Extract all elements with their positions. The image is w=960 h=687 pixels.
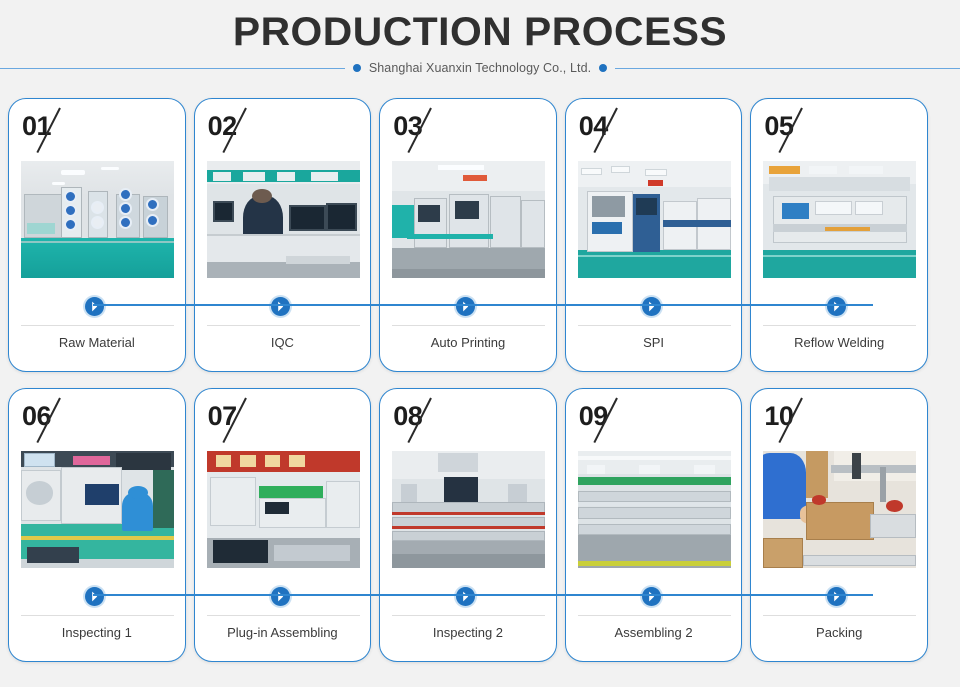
chevron-right-icon <box>85 297 104 316</box>
card-divider <box>578 325 731 326</box>
step-number: 08 <box>393 401 422 431</box>
page-title: PRODUCTION PROCESS <box>0 10 960 55</box>
process-step-card[interactable]: 09 <box>565 388 743 662</box>
chevron-right-icon <box>642 297 661 316</box>
step-number: 05 <box>764 111 793 141</box>
connector-line-row-1 <box>93 304 873 306</box>
step-number: 06 <box>22 401 51 431</box>
production-process-page: PRODUCTION PROCESS Shanghai Xuanxin Tech… <box>0 0 960 687</box>
step-photo <box>392 451 545 568</box>
step-photo <box>578 161 731 278</box>
step-photo <box>207 161 360 278</box>
process-step-card[interactable]: 01 <box>8 98 186 372</box>
process-step-card[interactable]: 03 <box>379 98 557 372</box>
step-number: 10 <box>764 401 793 431</box>
rule-dot-right-icon <box>599 64 607 72</box>
step-label: Packing <box>751 625 927 640</box>
step-label: Auto Printing <box>380 335 556 350</box>
process-step-card[interactable]: 07 <box>194 388 372 662</box>
chevron-right-icon <box>456 587 475 606</box>
step-photo <box>763 161 916 278</box>
step-label: Inspecting 1 <box>9 625 185 640</box>
step-number-group: 05 <box>764 111 854 159</box>
step-label: Inspecting 2 <box>380 625 556 640</box>
step-label: Plug-in Assembling <box>195 625 371 640</box>
step-label: Reflow Welding <box>751 335 927 350</box>
step-photo <box>578 451 731 568</box>
page-header: PRODUCTION PROCESS Shanghai Xuanxin Tech… <box>0 0 960 92</box>
step-number-group: 02 <box>208 111 298 159</box>
chevron-right-icon <box>271 587 290 606</box>
card-divider <box>763 615 916 616</box>
step-number-group: 04 <box>579 111 669 159</box>
chevron-right-icon <box>642 587 661 606</box>
card-divider <box>21 325 174 326</box>
step-number-group: 10 <box>764 401 854 449</box>
chevron-right-icon <box>271 297 290 316</box>
step-label: Raw Material <box>9 335 185 350</box>
chevron-right-icon <box>827 587 846 606</box>
step-number-group: 03 <box>393 111 483 159</box>
process-cards-row-2: 06 <box>8 388 952 662</box>
card-divider <box>207 325 360 326</box>
step-label: IQC <box>195 335 371 350</box>
step-number-group: 06 <box>22 401 112 449</box>
process-step-card[interactable]: 02 <box>194 98 372 372</box>
process-step-card[interactable]: 05 <box>750 98 928 372</box>
step-photo <box>763 451 916 568</box>
process-step-card[interactable]: 06 <box>8 388 186 662</box>
process-row-1: 01 <box>8 98 952 372</box>
rule-dot-left-icon <box>353 64 361 72</box>
card-divider <box>392 615 545 616</box>
step-number: 03 <box>393 111 422 141</box>
step-photo <box>21 451 174 568</box>
step-number-group: 09 <box>579 401 669 449</box>
card-divider <box>763 325 916 326</box>
step-label: Assembling 2 <box>566 625 742 640</box>
process-row-2: 06 <box>8 388 952 662</box>
card-divider <box>578 615 731 616</box>
card-divider <box>207 615 360 616</box>
subtitle-rule-row: Shanghai Xuanxin Technology Co., Ltd. <box>0 56 960 80</box>
process-step-card[interactable]: 08 <box>379 388 557 662</box>
process-cards-row-1: 01 <box>8 98 952 372</box>
card-divider <box>21 615 174 616</box>
step-photo <box>392 161 545 278</box>
connector-line-row-2 <box>93 594 873 596</box>
chevron-right-icon <box>456 297 475 316</box>
process-step-card[interactable]: 10 <box>750 388 928 662</box>
step-photo <box>207 451 360 568</box>
rule-right <box>615 68 960 69</box>
card-divider <box>392 325 545 326</box>
step-number-group: 01 <box>22 111 112 159</box>
step-number-group: 07 <box>208 401 298 449</box>
chevron-right-icon <box>85 587 104 606</box>
step-label: SPI <box>566 335 742 350</box>
rule-left <box>0 68 345 69</box>
process-step-card[interactable]: 04 <box>565 98 743 372</box>
chevron-right-icon <box>827 297 846 316</box>
step-photo <box>21 161 174 278</box>
step-number-group: 08 <box>393 401 483 449</box>
company-subtitle: Shanghai Xuanxin Technology Co., Ltd. <box>369 61 591 75</box>
process-grid: 01 <box>8 98 952 678</box>
step-number: 01 <box>22 111 51 141</box>
